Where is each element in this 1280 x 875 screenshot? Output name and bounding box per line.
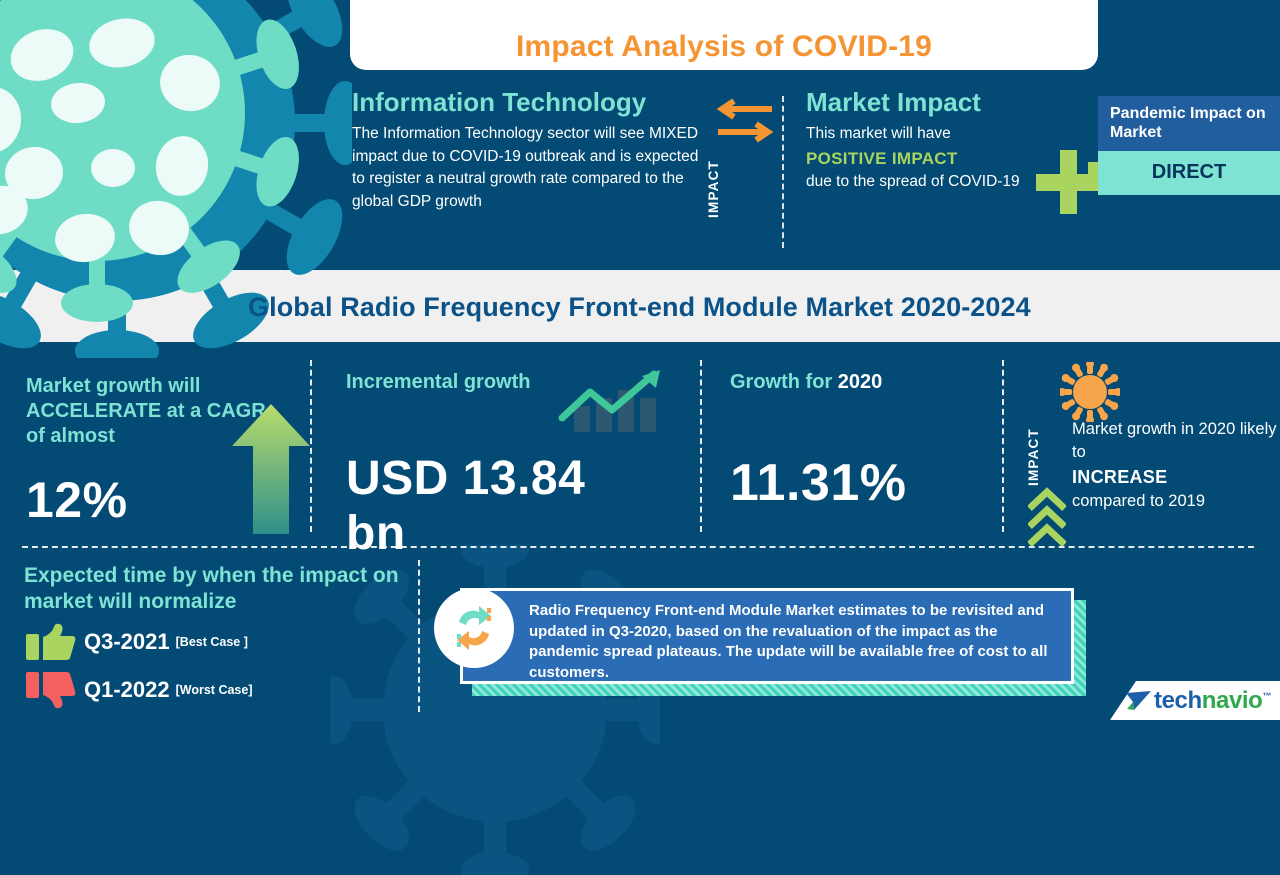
normalize-row-worst: Q1-2022 [Worst Case]	[24, 670, 424, 710]
impact-vertical-label: IMPACT	[1026, 386, 1041, 486]
normalize-quarter: Q1-2022	[84, 677, 170, 703]
market-report-title: Global Radio Frequency Front-end Module …	[248, 292, 1031, 323]
technavio-arrow-icon	[1124, 688, 1154, 714]
sector-heading: Information Technology	[352, 88, 712, 117]
bottom-divider	[418, 560, 420, 712]
logo-trademark: ™	[1262, 691, 1271, 701]
trending-up-icon	[556, 370, 668, 432]
stat-value: 11.31%	[730, 453, 1010, 513]
callout-box: Radio Frequency Front-end Module Market …	[460, 588, 1074, 684]
stats-row: Market growth will ACCELERATE at a CAGR …	[0, 342, 1280, 550]
normalize-row-best: Q3-2021 [Best Case ]	[24, 622, 424, 662]
sector-heading: Market Impact	[806, 88, 1086, 117]
page-title: Impact Analysis of COVID-19	[350, 0, 1098, 70]
logo-text-part2: navio	[1202, 687, 1263, 714]
stat-divider	[1002, 360, 1004, 532]
refresh-badge	[434, 588, 514, 668]
stat-cagr: Market growth will ACCELERATE at a CAGR …	[26, 374, 266, 529]
normalize-quarter: Q3-2021	[84, 629, 170, 655]
impact-2020-line2: compared to 2019	[1072, 492, 1205, 510]
infographic-canvas: Impact Analysis of COVID-19 Information …	[0, 0, 1280, 720]
impact-2020-block: IMPACT Market growth in 2020 likely to I…	[1020, 356, 1280, 546]
refresh-icon	[446, 600, 502, 656]
normalize-heading: Expected time by when the impact on mark…	[24, 563, 424, 614]
stat-growth-2020: Growth for 2020 11.31%	[730, 370, 1010, 513]
market-impact-line1: This market will have	[806, 123, 1086, 146]
stat-label-accent: Growth for	[730, 371, 838, 393]
pandemic-impact-panel: Pandemic Impact on Market DIRECT	[1098, 96, 1280, 195]
stat-label-year: 2020	[838, 371, 883, 393]
normalize-case: [Worst Case]	[176, 683, 253, 697]
stat-divider	[700, 360, 702, 532]
pandemic-panel-value: DIRECT	[1098, 151, 1280, 195]
technavio-logo[interactable]: technavio™	[1124, 687, 1271, 715]
arrow-up-icon	[232, 404, 310, 534]
stat-value: 12%	[26, 471, 266, 529]
logo-text-part1: tech	[1154, 687, 1202, 714]
bidirectional-arrows-icon	[710, 98, 780, 146]
sector-description: The Information Technology sector will s…	[352, 123, 712, 215]
pandemic-panel-heading: Pandemic Impact on Market	[1098, 96, 1280, 151]
callout-text: Radio Frequency Front-end Module Market …	[463, 591, 1071, 694]
stat-label: Growth for 2020	[730, 370, 1010, 395]
chevron-up-icon	[1028, 486, 1066, 546]
sector-information-technology: Information Technology The Information T…	[352, 88, 712, 214]
stat-divider	[310, 360, 312, 532]
thumbs-up-icon	[24, 622, 76, 662]
stats-bottom-divider	[22, 546, 1254, 548]
stat-value: USD 13.84 bn	[346, 451, 646, 561]
normalize-block: Expected time by when the impact on mark…	[24, 563, 424, 710]
stat-label: Market growth will ACCELERATE at a CAGR …	[26, 374, 266, 449]
thumbs-down-icon	[24, 670, 76, 710]
impact-indicator: IMPACT	[710, 98, 782, 248]
impact-2020-line1: Market growth in 2020 likely to	[1072, 420, 1277, 461]
impact-vertical-label: IMPACT	[706, 160, 778, 218]
normalize-case: [Best Case ]	[176, 635, 248, 649]
virus-icon	[1060, 362, 1120, 422]
impact-2020-highlight: INCREASE	[1072, 467, 1167, 487]
column-divider	[782, 96, 784, 248]
page-title-text: Impact Analysis of COVID-19	[516, 30, 932, 64]
